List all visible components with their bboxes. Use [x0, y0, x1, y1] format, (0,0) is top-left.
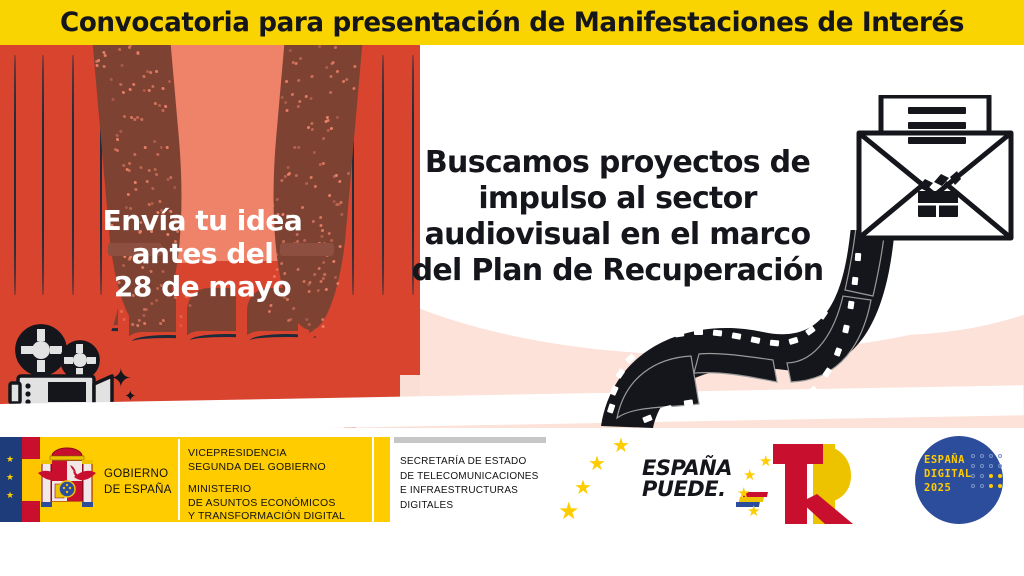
drape-speck — [325, 288, 328, 291]
drape-speck — [128, 88, 131, 91]
drape-speck — [318, 267, 321, 270]
drape-speck — [316, 289, 319, 292]
espana-digital-line-2: DIGITAL — [924, 467, 972, 481]
drape-speck — [328, 232, 331, 235]
headline-line-2: impulso al sector — [390, 181, 845, 217]
secretaria-line-4: DIGITALES — [400, 499, 538, 514]
drape-speck — [159, 200, 162, 203]
drape-speck — [311, 128, 314, 131]
drape-speck — [283, 175, 286, 178]
drape-speck — [119, 130, 122, 133]
drape-speck — [322, 162, 325, 165]
ministerio-label: VICEPRESIDENCIA SEGUNDA DEL GOBIERNO MIN… — [188, 447, 345, 524]
drape-speck — [268, 310, 271, 313]
drape-speck — [353, 87, 356, 90]
sparkle-icon: ✦✦ — [110, 365, 132, 391]
drape-speck — [161, 109, 164, 112]
drape-speck — [322, 277, 325, 280]
footer-logos-bar: ★ ★ ★ — [0, 428, 1024, 576]
eu-flag-strip: ★ ★ ★ — [0, 437, 22, 522]
drape-speck — [116, 149, 119, 152]
drape-speck — [153, 168, 156, 171]
deadline-line-2: antes del — [95, 238, 310, 271]
drape-speck — [307, 126, 310, 129]
drape-speck — [338, 180, 341, 183]
drape-speck — [325, 66, 328, 69]
drape-speck — [310, 97, 313, 100]
gobierno-label: GOBIERNO DE ESPAÑA — [104, 467, 172, 498]
drape-speck — [164, 105, 167, 108]
drape-speck — [143, 146, 146, 149]
drape-speck — [153, 140, 156, 143]
drape-speck — [336, 70, 339, 73]
drape-speck — [298, 100, 301, 103]
drape-speck — [313, 273, 316, 276]
drape-speck — [342, 80, 345, 83]
drape-speck — [313, 151, 316, 154]
drape-speck — [125, 168, 128, 171]
drape-speck — [103, 65, 106, 68]
espana-digital-line-3: 2025 — [924, 481, 972, 495]
logo-gobierno-de-espana: ★ ★ ★ — [0, 437, 372, 522]
header-band: Convocatoria para presentación de Manife… — [0, 0, 1024, 45]
drape-speck — [133, 118, 136, 121]
gobierno-line-1: GOBIERNO — [104, 467, 172, 483]
ministerio-line-1: VICEPRESIDENCIA — [188, 447, 345, 461]
drape-speck — [155, 173, 158, 176]
drape-speck — [329, 91, 332, 94]
drape-speck — [326, 119, 329, 122]
drape-speck — [145, 180, 148, 183]
deadline-line-3: 28 de mayo — [95, 271, 310, 304]
secretaria-line-3: E INFRAESTRUCTURAS — [400, 484, 538, 499]
ministerio-line-2: SEGUNDA DEL GOBIERNO — [188, 461, 345, 475]
drape-speck — [345, 78, 348, 81]
drape-speck — [319, 224, 322, 227]
secretaria-line-1: SECRETARÍA DE ESTADO — [400, 455, 538, 470]
drape-speck — [276, 198, 279, 201]
drape-speck — [310, 122, 313, 125]
drape-speck — [310, 176, 313, 179]
drape-speck — [168, 80, 171, 83]
drape-speck — [147, 169, 150, 172]
logo-espana-puede: ★ ★ ★ ★ ESPAÑA PUEDE. — [560, 436, 750, 526]
drape-speck — [118, 48, 121, 51]
drape-speck — [339, 201, 342, 204]
drape-speck — [143, 322, 146, 325]
drape-speck — [321, 318, 324, 321]
deadline-line-1: Envía tu idea — [95, 205, 310, 238]
tr-monogram-icon — [767, 438, 859, 530]
drape-speck — [97, 59, 100, 62]
drape-speck — [142, 314, 145, 317]
main-illustration-area: ✦✦ — [0, 45, 1024, 428]
drape-speck — [322, 137, 325, 140]
drape-speck — [162, 319, 165, 322]
film-strip-icon — [595, 230, 925, 428]
drape-speck — [179, 315, 182, 318]
drape-speck — [299, 57, 302, 60]
drape-speck — [328, 194, 331, 197]
digital-dot-matrix — [971, 454, 1001, 498]
drape-speck — [330, 239, 333, 242]
drape-speck — [159, 322, 162, 325]
drape-speck — [347, 172, 350, 175]
drape-speck — [297, 146, 300, 149]
espana-digital-line-1: ESPAÑA — [924, 453, 972, 467]
drape-speck — [319, 216, 322, 219]
espana-puede-label: ESPAÑA PUEDE. — [642, 458, 732, 501]
drape-speck — [160, 146, 163, 149]
espana-digital-label: ESPAÑA DIGITAL 2025 — [924, 453, 972, 495]
drape-speck — [285, 80, 288, 83]
ministerio-line-5: Y TRANSFORMACIÓN DIGITAL — [188, 510, 345, 524]
logo-plan-recuperacion: ★ ★ ★ ★ — [735, 436, 865, 526]
ministerio-line-4: DE ASUNTOS ECONÓMICOS — [188, 497, 345, 511]
drape-speck — [127, 193, 130, 196]
drape-speck — [123, 115, 126, 118]
drape-speck — [137, 52, 140, 55]
drape-speck — [338, 245, 341, 248]
drape-speck — [292, 307, 295, 310]
ministerio-line-3: MINISTERIO — [188, 483, 345, 497]
drape-speck — [169, 176, 172, 179]
drape-speck — [139, 166, 142, 169]
drape-speck — [305, 182, 308, 185]
logo-espana-digital-2025: ESPAÑA DIGITAL 2025 — [915, 436, 1011, 532]
drape-speck — [173, 186, 176, 189]
drape-speck — [133, 153, 136, 156]
drape-speck — [335, 174, 338, 177]
drape-speck — [166, 178, 169, 181]
drape-speck — [287, 173, 290, 176]
drape-speck — [151, 85, 154, 88]
coat-of-arms-spain-icon — [36, 445, 98, 515]
drape-speck — [115, 134, 118, 137]
drape-speck — [320, 280, 323, 283]
drape-speck — [336, 116, 339, 119]
drape-speck — [158, 104, 161, 107]
drape-speck — [121, 91, 124, 94]
drape-speck — [318, 45, 321, 48]
drape-speck — [149, 71, 152, 74]
drape-speck — [323, 273, 326, 276]
drape-speck — [132, 83, 135, 86]
drape-speck — [293, 146, 296, 149]
drape-speck — [165, 146, 168, 149]
drape-speck — [321, 229, 324, 232]
drape-speck — [297, 105, 300, 108]
drape-speck — [144, 308, 147, 311]
drape-speck — [142, 75, 145, 78]
drape-speck — [128, 162, 131, 165]
drape-speck — [111, 98, 114, 101]
drape-speck — [304, 95, 307, 98]
document-lines-icon — [908, 107, 966, 144]
espana-puede-line-1: ESPAÑA — [642, 458, 732, 479]
secretaria-accent-bar — [374, 437, 390, 522]
secretaria-label: SECRETARÍA DE ESTADO DE TELECOMUNICACION… — [400, 455, 538, 513]
drape-speck — [287, 166, 290, 169]
drape-speck — [134, 188, 137, 191]
drape-speck — [281, 96, 284, 99]
drape-speck — [286, 109, 289, 112]
eu-stars-icon: ★ ★ ★ ★ — [560, 436, 650, 526]
drape-speck — [284, 101, 287, 104]
drape-speck — [119, 83, 122, 86]
secretaria-top-bar — [394, 437, 546, 443]
drape-speck — [320, 235, 323, 238]
logo-divider — [178, 439, 180, 520]
drape-speck — [134, 181, 137, 184]
drape-speck — [331, 62, 334, 65]
drape-speck — [308, 323, 311, 326]
gobierno-line-2: DE ESPAÑA — [104, 483, 172, 499]
drape-speck — [312, 220, 315, 223]
drape-speck — [138, 319, 141, 322]
drape-speck — [314, 185, 317, 188]
drape-speck — [140, 118, 143, 121]
drape-speck — [326, 129, 329, 132]
drape-speck — [156, 153, 159, 156]
drape-speck — [109, 78, 112, 81]
logo-secretaria-de-estado: SECRETARÍA DE ESTADO DE TELECOMUNICACION… — [374, 437, 574, 532]
drape-speck — [332, 260, 335, 263]
poster-canvas: Convocatoria para presentación de Manife… — [0, 0, 1024, 576]
drape-speck — [353, 65, 356, 68]
drape-speck — [116, 138, 119, 141]
page-title: Convocatoria para presentación de Manife… — [60, 7, 964, 38]
drape-speck — [147, 89, 150, 92]
drape-speck — [120, 64, 123, 67]
drape-speck — [136, 116, 139, 119]
drape-speck — [322, 261, 325, 264]
drape-speck — [281, 179, 284, 182]
drape-speck — [289, 49, 292, 52]
drape-speck — [154, 102, 157, 105]
drape-speck — [310, 75, 313, 78]
drape-speck — [334, 276, 337, 279]
drape-speck — [103, 54, 106, 57]
headline-line-1: Buscamos proyectos de — [390, 145, 845, 181]
drape-speck — [330, 127, 333, 130]
secretaria-line-2: DE TELECOMUNICACIONES — [400, 470, 538, 485]
drape-speck — [305, 318, 308, 321]
deadline-text: Envía tu idea antes del 28 de mayo — [95, 205, 310, 303]
drape-speck — [151, 187, 154, 190]
espana-puede-line-2: PUEDE. — [642, 479, 732, 500]
drape-speck — [335, 203, 338, 206]
drape-speck — [297, 79, 300, 82]
drape-speck — [329, 75, 332, 78]
drape-speck — [155, 70, 158, 73]
drape-speck — [142, 89, 145, 92]
drape-speck — [131, 323, 134, 326]
drape-speck — [96, 64, 99, 67]
drape-speck — [136, 324, 139, 327]
drape-speck — [161, 87, 164, 90]
drape-speck — [291, 93, 294, 96]
envelope-icon — [855, 95, 1015, 248]
drape-speck — [295, 174, 298, 177]
drape-speck — [341, 213, 344, 216]
drape-speck — [122, 164, 125, 167]
drape-speck — [334, 46, 337, 49]
